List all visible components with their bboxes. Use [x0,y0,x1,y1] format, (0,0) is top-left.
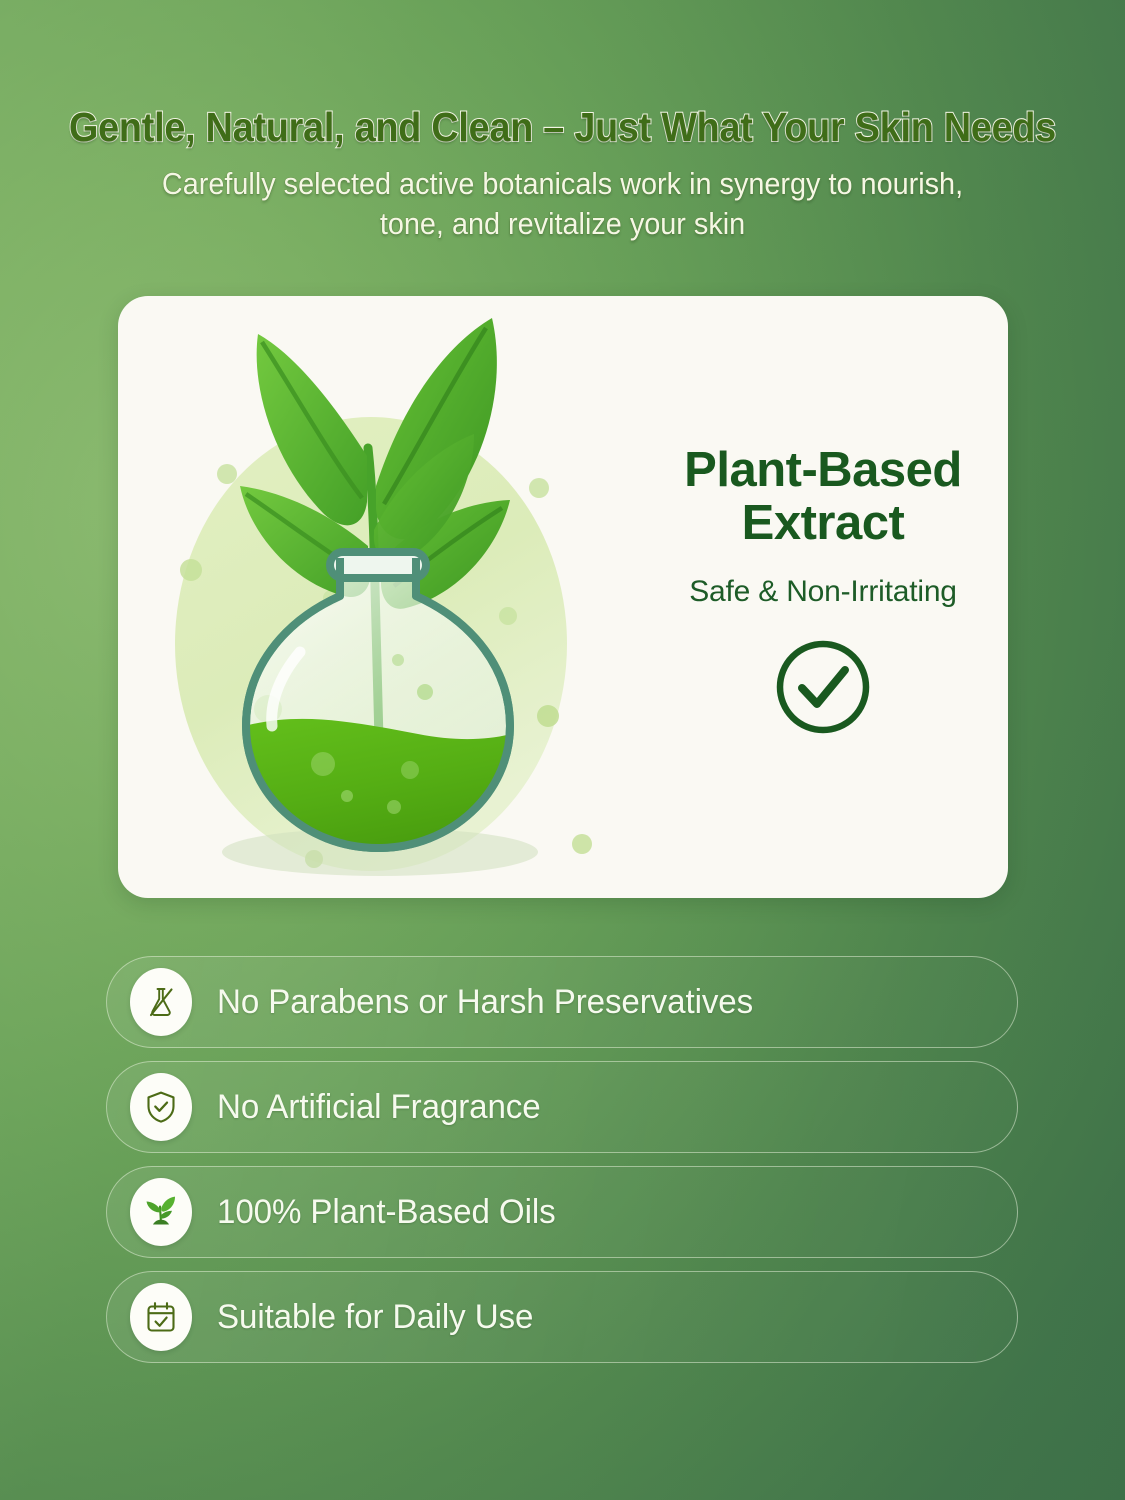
hero-title-line-2: Extract [684,497,962,549]
promo-page: Gentle, Natural, and Clean – Just What Y… [0,0,1125,1500]
hero-title: Plant-Based Extract [684,444,962,549]
feature-pill-daily-use[interactable]: Suitable for Daily Use [106,1271,1018,1363]
page-subtitle-line-1: Carefully selected active botanicals wor… [39,164,1085,204]
feature-label: No Artificial Fragrance [217,1088,541,1127]
page-headline: Gentle, Natural, and Clean – Just What Y… [39,104,1085,151]
hero-title-line-1: Plant-Based [684,444,962,496]
seedling-icon [130,1178,192,1246]
feature-pill-no-fragrance[interactable]: No Artificial Fragrance [106,1061,1018,1153]
header-block: Gentle, Natural, and Clean – Just What Y… [0,104,1125,245]
hero-card: Plant-Based Extract Safe & Non-Irritatin… [118,296,1008,898]
hero-subtitle: Safe & Non-Irritating [689,575,957,609]
feature-pill-no-parabens[interactable]: No Parabens or Harsh Preservatives [106,956,1018,1048]
hero-text-block: Plant-Based Extract Safe & Non-Irritatin… [638,296,1008,898]
feature-label: 100% Plant-Based Oils [217,1193,556,1232]
feature-label: No Parabens or Harsh Preservatives [217,983,753,1022]
shield-check-icon [130,1073,192,1141]
flask-with-sprout-illustration [118,296,638,898]
page-subtitle-line-2: tone, and revitalize your skin [39,204,1085,244]
check-circle-icon [771,635,875,744]
page-subtitle: Carefully selected active botanicals wor… [39,164,1085,245]
feature-label: Suitable for Daily Use [217,1298,533,1337]
feature-pill-plant-based-oils[interactable]: 100% Plant-Based Oils [106,1166,1018,1258]
feature-list: No Parabens or Harsh Preservatives No Ar… [106,956,1018,1363]
calendar-check-icon [130,1283,192,1351]
no-chemicals-flask-icon [130,968,192,1036]
